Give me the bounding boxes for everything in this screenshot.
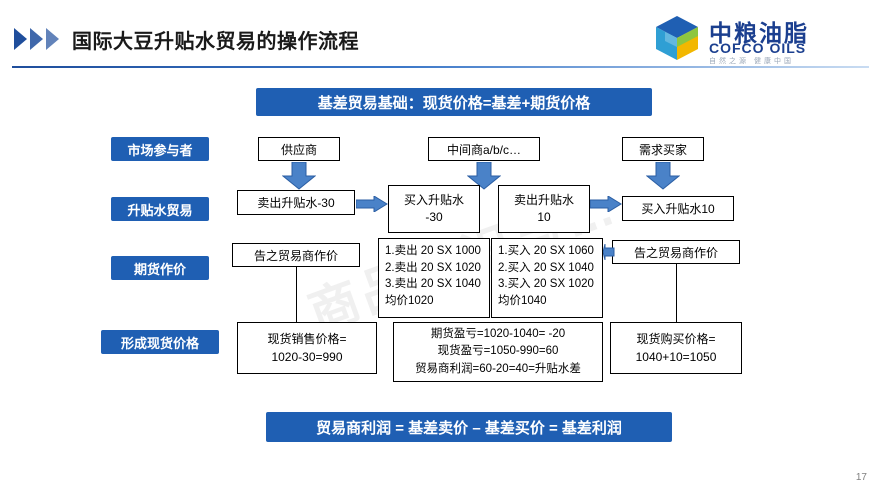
slide-root: 国际大豆升贴水贸易的操作流程 中粮油脂 COFCO OILS 自然之源 健康中国… <box>0 0 881 491</box>
spot-buy-price-box: 现货购买价格= 1040+10=1050 <box>610 322 742 374</box>
futures-buy-line-4: 均价1040 <box>498 293 596 310</box>
futures-buy-list: 1.买入 20 SX 1060 2.买入 20 SX 1040 3.买入 20 … <box>491 238 603 318</box>
premium-sell-10-l1: 卖出升贴水 <box>514 192 574 209</box>
row-label-futures-pricing: 期货作价 <box>111 256 209 280</box>
header-divider <box>12 66 869 68</box>
futures-sell-line-4: 均价1020 <box>385 293 483 310</box>
arrow-right-mid-to-buyer-icon <box>590 196 622 212</box>
row-label-premium-trading: 升贴水贸易 <box>111 197 209 221</box>
page-title: 国际大豆升贴水贸易的操作流程 <box>72 25 359 54</box>
page-number: 17 <box>856 472 867 483</box>
arrow-left-inform-icon <box>603 244 615 260</box>
arrow-right-supplier-to-mid-icon <box>356 196 388 212</box>
futures-buy-line-1: 1.买入 20 SX 1060 <box>498 243 596 260</box>
premium-buy-minus30-l2: -30 <box>425 209 442 226</box>
participant-intermediary: 中间商a/b/c… <box>428 137 540 161</box>
profit-line-1: 期货盈亏=1020-1040= -20 <box>431 326 565 343</box>
connector-right <box>676 264 677 322</box>
premium-buy-minus30-l1: 买入升贴水 <box>404 192 464 209</box>
futures-buy-line-2: 2.买入 20 SX 1040 <box>498 260 596 277</box>
participant-buyer: 需求买家 <box>622 137 704 161</box>
premium-buy-10: 买入升贴水10 <box>622 196 734 221</box>
arrow-down-supplier-icon <box>282 162 316 190</box>
note-inform-trader-right: 告之贸易商作价 <box>612 240 740 264</box>
profit-line-2: 现货盈亏=1050-990=60 <box>438 343 559 360</box>
banner-basis-trading-basics: 基差贸易基础：现货价格=基差+期货价格 <box>256 88 652 116</box>
futures-sell-line-3: 3.卖出 20 SX 1040 <box>385 276 483 293</box>
arrow-down-buyer-icon <box>646 162 680 190</box>
spot-buy-line-2: 1040+10=1050 <box>636 348 717 366</box>
premium-buy-minus30: 买入升贴水 -30 <box>388 185 480 233</box>
row-label-market-participants: 市场参与者 <box>111 137 209 161</box>
banner-trader-profit: 贸易商利润 = 基差卖价 – 基差买价 = 基差利润 <box>266 412 672 442</box>
logo-text-en: COFCO OILS <box>709 40 806 56</box>
spot-sell-price-box: 现货销售价格= 1020-30=990 <box>237 322 377 374</box>
profit-calc-box: 期货盈亏=1020-1040= -20 现货盈亏=1050-990=60 贸易商… <box>393 322 603 382</box>
futures-sell-line-2: 2.卖出 20 SX 1020 <box>385 260 483 277</box>
chevron-icon-3 <box>46 28 59 50</box>
row-label-spot-price-formation: 形成现货价格 <box>101 330 219 354</box>
futures-sell-list: 1.卖出 20 SX 1000 2.卖出 20 SX 1020 3.卖出 20 … <box>378 238 490 318</box>
futures-buy-line-3: 3.买入 20 SX 1020 <box>498 276 596 293</box>
futures-sell-line-1: 1.卖出 20 SX 1000 <box>385 243 483 260</box>
premium-sell-10-l2: 10 <box>537 209 550 226</box>
spot-buy-line-1: 现货购买价格= <box>636 330 715 348</box>
note-inform-trader-left: 告之贸易商作价 <box>232 243 360 267</box>
logo-tagline: 自然之源 健康中国 <box>709 56 794 66</box>
logo: 中粮油脂 COFCO OILS 自然之源 健康中国 <box>653 12 863 64</box>
spot-sell-line-2: 1020-30=990 <box>271 348 342 366</box>
spot-sell-line-1: 现货销售价格= <box>267 330 346 348</box>
profit-line-3: 贸易商利润=60-20=40=升贴水差 <box>415 361 581 378</box>
connector-left <box>296 267 297 322</box>
premium-sell-10: 卖出升贴水 10 <box>498 185 590 233</box>
chevron-icon-2 <box>30 28 43 50</box>
premium-sell-minus30: 卖出升贴水-30 <box>237 190 355 215</box>
cofco-cube-icon <box>653 14 701 62</box>
participant-supplier: 供应商 <box>258 137 340 161</box>
chevron-icon-1 <box>14 28 27 50</box>
